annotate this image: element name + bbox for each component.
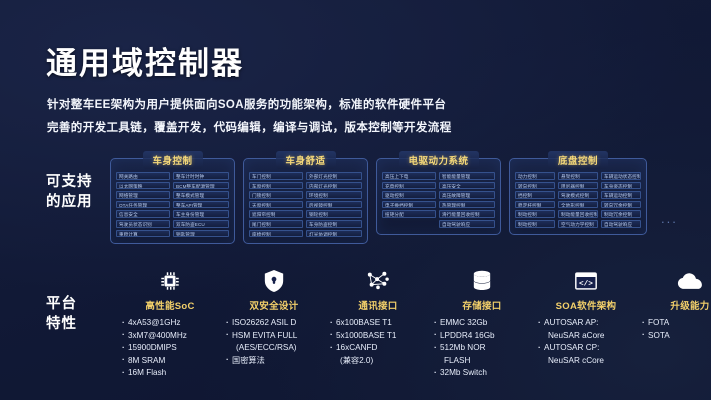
panel-column: 整车计时时钟BCM整车配源管理整车模式管理整车API管理车主身份管理双车防盗EC… xyxy=(173,172,229,237)
feature-spec-item: 32Mb Switch xyxy=(440,367,534,380)
feature-spec-item: FOTA xyxy=(648,317,711,330)
panel-cell[interactable]: 车主身份管理 xyxy=(173,210,229,218)
platform-feature: 双安全设计ISO26262 ASIL DHSM EVITA FULL(AES/E… xyxy=(222,268,326,367)
chip-icon xyxy=(118,268,222,294)
feature-spec-item: 4xA53@1GHz xyxy=(128,317,222,330)
panel-cell[interactable]: 智能能量管理 xyxy=(439,172,495,180)
feature-title: 高性能SoC xyxy=(118,298,222,312)
feature-spec-list: AUTOSAR AP:NeuSAR aCoreAUTOSAR CP:NeuSAR… xyxy=(534,317,638,367)
panel-cell[interactable]: 制动控制 xyxy=(515,220,555,228)
feature-spec-item: 16xCANFD xyxy=(336,342,430,355)
panel-cell[interactable]: 整车API管理 xyxy=(173,201,229,209)
panel-title: 电驱动力系统 xyxy=(398,151,478,169)
feature-spec-item: 8M SRAM xyxy=(128,355,222,368)
platform-label-line-2: 特性 xyxy=(46,315,77,335)
panel-cell[interactable]: 滑行能量回收控制 xyxy=(439,210,495,218)
panel-cell[interactable]: 热管理控制 xyxy=(439,201,495,209)
applications-section-label: 可支持 的应用 xyxy=(46,173,93,212)
platform-feature: 存储接口EMMC 32GbLPDDR4 16Gb512Mb NORFLASH32… xyxy=(430,268,534,380)
feature-spec-item: ISO26262 ASIL D xyxy=(232,317,326,330)
feature-spec-item: 3xM7@400MHz xyxy=(128,330,222,343)
panel-cell[interactable]: 自动驾驶响应 xyxy=(601,220,641,228)
panel-cell[interactable]: BCM整车配源管理 xyxy=(173,182,229,190)
panel-cell[interactable]: 车门控制 xyxy=(249,172,303,180)
panel-cell[interactable]: 制动控制 xyxy=(515,210,555,218)
panel-cell[interactable]: 灯光协调控制 xyxy=(306,230,362,238)
feature-spec-item: NeuSAR cCore xyxy=(544,355,638,368)
cloud-icon xyxy=(638,268,711,294)
application-panel: 车身控制网关路由以太网策略网络管理OTA任务管理信息安全驾驶员状态识别重稳计算整… xyxy=(110,158,235,244)
panel-grid: 网关路由以太网策略网络管理OTA任务管理信息安全驾驶员状态识别重稳计算整车计时时… xyxy=(116,172,229,237)
feature-spec-list: ISO26262 ASIL DHSM EVITA FULL(AES/ECC/RS… xyxy=(222,317,326,367)
feature-spec-list: 6x100BASE T15x1000BASE T116xCANFD(兼容2.0) xyxy=(326,317,430,367)
panel-cell[interactable]: 网络管理 xyxy=(116,191,170,199)
feature-spec-list: 4xA53@1GHz3xM7@400MHz15900DMIPS8M SRAM16… xyxy=(118,317,222,380)
feature-spec-item: 15900DMIPS xyxy=(128,342,222,355)
panel-column: 动力控制转向控制挡控制稳定杆控制制动控制制动控制 xyxy=(515,172,555,228)
panel-grid: 高压上下电充电控制驱动控制电子换挡控制扭矩分配智能能量管理高压安全高压故障管理热… xyxy=(382,172,495,228)
subtitle-line-2: 完善的开发工具链，覆盖开发，代码编辑，编译与调试，版本控制等开发流程 xyxy=(47,119,452,135)
panel-cell[interactable]: 整车计时时钟 xyxy=(173,172,229,180)
feature-spec-item: (AES/ECC/RSA) xyxy=(232,342,326,355)
panel-title: 车身控制 xyxy=(142,151,202,169)
panel-cell[interactable]: 天窗控制 xyxy=(249,201,303,209)
feature-spec-item: 512Mb NOR xyxy=(440,342,534,355)
feature-title: 存储接口 xyxy=(430,298,534,312)
feature-spec-item: AUTOSAR AP: xyxy=(544,317,638,330)
panel-cell[interactable]: 扭矩分配 xyxy=(382,210,436,218)
panel-cell[interactable]: 高压故障管理 xyxy=(439,191,495,199)
panels-ellipsis: ... xyxy=(661,211,678,226)
feature-title: 升级能力 xyxy=(638,298,711,312)
feature-spec-item: LPDDR4 16Gb xyxy=(440,330,534,343)
panel-cell[interactable]: OTA任务管理 xyxy=(116,201,170,209)
panel-cell[interactable]: 车身姿态控制 xyxy=(601,182,641,190)
panel-cell[interactable]: 驱动控制 xyxy=(382,191,436,199)
panel-cell[interactable]: 车窗控制 xyxy=(249,182,303,190)
panel-cell[interactable]: 充电控制 xyxy=(382,182,436,190)
slide-canvas: 通用域控制器 针对整车EE架构为用户提供面向SOA服务的功能架构，标准的软件硬件… xyxy=(0,0,711,400)
application-panel: 车身舒适车门控制车窗控制门锁控制天窗控制遮阳帘控制尾门控制座椅控制外部灯光控制内… xyxy=(243,158,368,244)
panel-column: 车辆运动状态控制车身姿态控制车辆运动控制转向冗余控制制动冗余控制自动驾驶响应 xyxy=(601,172,641,228)
panel-cell[interactable]: 空气动力学控制 xyxy=(558,220,598,228)
panel-cell[interactable]: 车身防盗控制 xyxy=(306,220,362,228)
panel-column: 高压上下电充电控制驱动控制电子换挡控制扭矩分配 xyxy=(382,172,436,228)
panel-cell[interactable]: 座椅控制 xyxy=(249,230,303,238)
panel-cell[interactable]: 遮阳帘控制 xyxy=(249,210,303,218)
panel-column: 悬架控制阻尼器控制驾驶模式控制全地形控制制动能量回收控制空气动力学控制 xyxy=(558,172,598,228)
panel-cell[interactable]: 高压安全 xyxy=(439,182,495,190)
feature-spec-item: (兼容2.0) xyxy=(336,355,430,368)
svg-text:</>: </> xyxy=(579,281,593,289)
platform-features: 高性能SoC4xA53@1GHz3xM7@400MHz15900DMIPS8M … xyxy=(118,268,711,380)
page-title: 通用域控制器 xyxy=(46,38,244,83)
code-window-icon: </> xyxy=(534,268,638,294)
panel-cell[interactable]: 制动冗余控制 xyxy=(601,210,641,218)
platform-feature: 高性能SoC4xA53@1GHz3xM7@400MHz15900DMIPS8M … xyxy=(118,268,222,380)
panel-cell[interactable]: 重稳计算 xyxy=(116,230,170,238)
platform-section-label: 平台 特性 xyxy=(46,295,77,334)
panel-column: 车门控制车窗控制门锁控制天窗控制遮阳帘控制尾门控制座椅控制 xyxy=(249,172,303,237)
panel-title: 底盘控制 xyxy=(548,151,608,169)
feature-spec-item: 6x100BASE T1 xyxy=(336,317,430,330)
panel-cell[interactable]: 挡控制 xyxy=(515,191,555,199)
database-icon xyxy=(430,268,534,294)
subtitle-line-1: 针对整车EE架构为用户提供面向SOA服务的功能架构，标准的软件硬件平台 xyxy=(47,96,446,112)
feature-spec-list: FOTASOTA xyxy=(638,317,711,342)
feature-spec-item: EMMC 32Gb xyxy=(440,317,534,330)
panel-cell[interactable]: 驾驶模式控制 xyxy=(558,191,598,199)
applications-label-line-2: 的应用 xyxy=(46,193,93,213)
feature-title: SOA软件架构 xyxy=(534,298,638,312)
panel-cell[interactable]: 全地形控制 xyxy=(558,201,598,209)
feature-spec-item: NeuSAR aCore xyxy=(544,330,638,343)
panel-cell[interactable]: 车辆运动状态控制 xyxy=(601,172,641,180)
panel-cell[interactable]: 驾驶员状态识别 xyxy=(116,220,170,228)
network-nodes-icon xyxy=(326,268,430,294)
panel-grid: 动力控制转向控制挡控制稳定杆控制制动控制制动控制悬架控制阻尼器控制驾驶模式控制全… xyxy=(515,172,641,228)
feature-spec-list: EMMC 32GbLPDDR4 16Gb512Mb NORFLASH32Mb S… xyxy=(430,317,534,380)
panel-cell[interactable]: 转向冗余控制 xyxy=(601,201,641,209)
application-panel: 底盘控制动力控制转向控制挡控制稳定杆控制制动控制制动控制悬架控制阻尼器控制驾驶模… xyxy=(509,158,647,235)
panel-cell[interactable]: 车辆运动控制 xyxy=(601,191,641,199)
platform-feature: </>SOA软件架构AUTOSAR AP:NeuSAR aCoreAUTOSAR… xyxy=(534,268,638,367)
platform-feature: 通讯接口6x100BASE T15x1000BASE T116xCANFD(兼容… xyxy=(326,268,430,367)
panel-cell[interactable]: 阻尼器控制 xyxy=(558,182,598,190)
panel-cell[interactable]: 自动驾驶响应 xyxy=(439,220,495,228)
panel-cell[interactable]: 双车防盗ECU xyxy=(173,220,229,228)
panel-cell[interactable]: 环境控制 xyxy=(306,191,362,199)
panel-column: 外部灯光控制内部灯光控制环境控制后视镜控制钢轮控制车身防盗控制灯光协调控制 xyxy=(306,172,362,237)
feature-spec-item: 16M Flash xyxy=(128,367,222,380)
panel-cell[interactable]: 外部灯光控制 xyxy=(306,172,362,180)
panel-grid: 车门控制车窗控制门锁控制天窗控制遮阳帘控制尾门控制座椅控制外部灯光控制内部灯光控… xyxy=(249,172,362,237)
platform-label-line-1: 平台 xyxy=(46,295,77,315)
application-panels: 车身控制网关路由以太网策略网络管理OTA任务管理信息安全驾驶员状态识别重稳计算整… xyxy=(110,158,678,244)
shield-lock-icon xyxy=(222,268,326,294)
feature-spec-item: SOTA xyxy=(648,330,711,343)
panel-cell[interactable]: 网关路由 xyxy=(116,172,170,180)
panel-cell[interactable]: 制动能量回收控制 xyxy=(558,210,598,218)
panel-cell[interactable]: 内部灯光控制 xyxy=(306,182,362,190)
feature-spec-item: 5x1000BASE T1 xyxy=(336,330,430,343)
application-panel: 电驱动力系统高压上下电充电控制驱动控制电子换挡控制扭矩分配智能能量管理高压安全高… xyxy=(376,158,501,235)
panel-column: 智能能量管理高压安全高压故障管理热管理控制滑行能量回收控制自动驾驶响应 xyxy=(439,172,495,228)
panel-cell[interactable]: 钥匙管理 xyxy=(173,230,229,238)
panel-cell[interactable]: 整车模式管理 xyxy=(173,191,229,199)
panel-cell[interactable]: 稳定杆控制 xyxy=(515,201,555,209)
panel-cell[interactable]: 高压上下电 xyxy=(382,172,436,180)
feature-title: 通讯接口 xyxy=(326,298,430,312)
panel-cell[interactable]: 后视镜控制 xyxy=(306,201,362,209)
feature-spec-item: 国密算法 xyxy=(232,355,326,368)
feature-spec-item: FLASH xyxy=(440,355,534,368)
feature-title: 双安全设计 xyxy=(222,298,326,312)
panel-cell[interactable]: 门锁控制 xyxy=(249,191,303,199)
panel-cell[interactable]: 悬架控制 xyxy=(558,172,598,180)
panel-cell[interactable]: 动力控制 xyxy=(515,172,555,180)
panel-cell[interactable]: 信息安全 xyxy=(116,210,170,218)
applications-label-line-1: 可支持 xyxy=(46,173,93,193)
platform-feature: 升级能力FOTASOTA xyxy=(638,268,711,342)
panel-column: 网关路由以太网策略网络管理OTA任务管理信息安全驾驶员状态识别重稳计算 xyxy=(116,172,170,237)
feature-spec-item: AUTOSAR CP: xyxy=(544,342,638,355)
panel-cell[interactable]: 转向控制 xyxy=(515,182,555,190)
panel-title: 车身舒适 xyxy=(275,151,335,169)
panel-cell[interactable]: 钢轮控制 xyxy=(306,210,362,218)
feature-spec-item: HSM EVITA FULL xyxy=(232,330,326,343)
panel-cell[interactable]: 电子换挡控制 xyxy=(382,201,436,209)
panel-cell[interactable]: 以太网策略 xyxy=(116,182,170,190)
panel-cell[interactable]: 尾门控制 xyxy=(249,220,303,228)
